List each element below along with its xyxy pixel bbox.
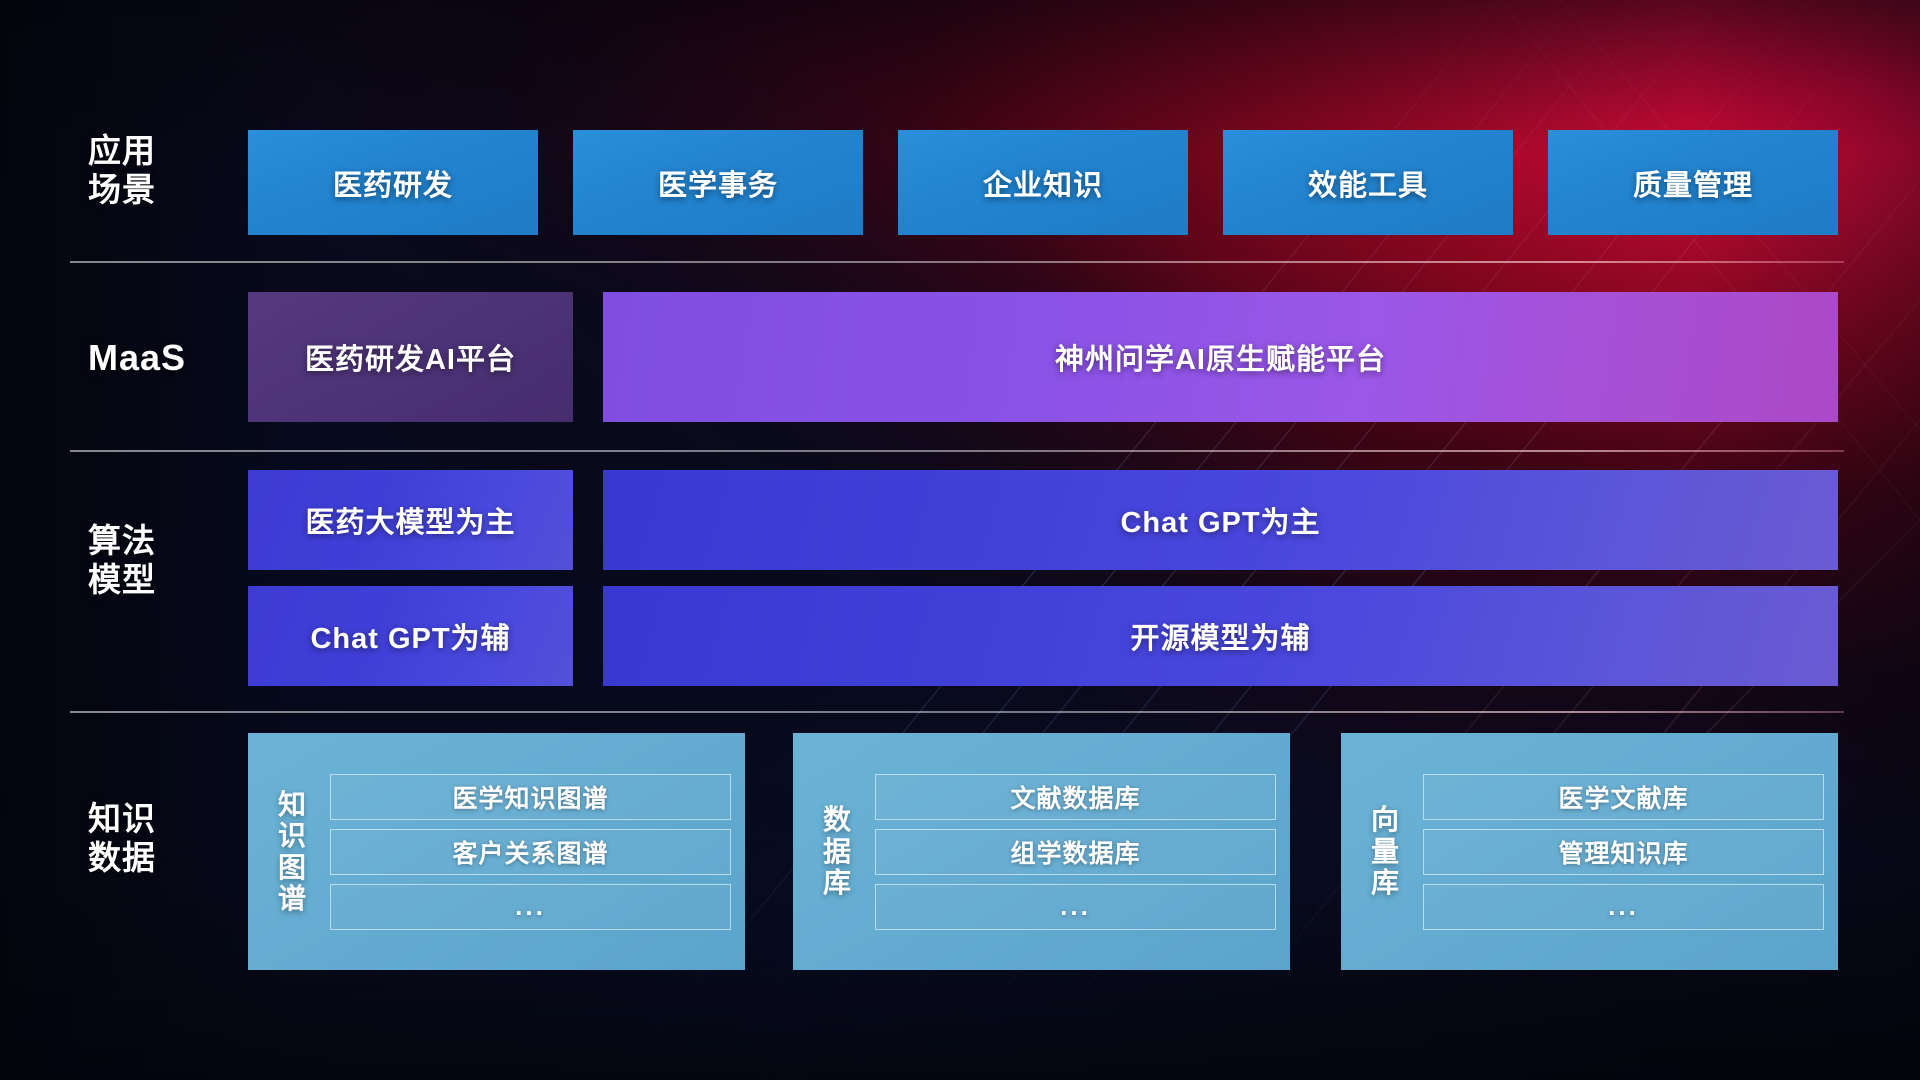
knowledge-item-database-2[interactable]: 组学数据库	[875, 829, 1276, 875]
maas-box-medical-platform[interactable]: 医药研发AI平台	[248, 292, 573, 422]
app-box-1-label: 医药研发	[333, 162, 453, 204]
knowledge-group-database-label: 数据库	[811, 804, 863, 898]
tier-label-line-1: 应用	[88, 132, 238, 171]
tier-label-knowledge-line-1: 知识	[88, 800, 238, 839]
tier-label-maas: MaaS	[88, 337, 238, 379]
tier-label-line-2: 场景	[88, 171, 238, 210]
app-box-2[interactable]: 医学事务	[573, 130, 863, 235]
knowledge-item-vector-1-label: 医学文献库	[1558, 779, 1688, 815]
algo-box-opensource-secondary-label: 开源模型为辅	[1130, 615, 1310, 657]
knowledge-item-graph-1-label: 医学知识图谱	[452, 779, 608, 815]
app-box-4-label: 效能工具	[1308, 162, 1428, 204]
algo-box-chatgpt-primary-label: Chat GPT为主	[1120, 499, 1320, 541]
architecture-diagram: 应用 场景 医药研发 医学事务 企业知识 效能工具 质量管理 MaaS 医药研发…	[0, 0, 1920, 1080]
divider-1	[70, 261, 1844, 263]
divider-3	[70, 711, 1844, 713]
app-box-3-label: 企业知识	[983, 162, 1103, 204]
algo-box-chatgpt-secondary-label: Chat GPT为辅	[310, 615, 510, 657]
knowledge-item-graph-3[interactable]: ...	[330, 884, 731, 930]
knowledge-item-vector-3-label: ...	[1608, 891, 1639, 922]
app-box-2-label: 医学事务	[658, 162, 778, 204]
app-box-5-label: 质量管理	[1633, 162, 1753, 204]
app-box-5[interactable]: 质量管理	[1548, 130, 1838, 235]
knowledge-item-database-3-label: ...	[1060, 891, 1091, 922]
knowledge-item-database-3[interactable]: ...	[875, 884, 1276, 930]
knowledge-item-graph-3-label: ...	[515, 891, 546, 922]
knowledge-item-database-2-label: 组学数据库	[1010, 834, 1140, 870]
knowledge-group-graph-label: 知识图谱	[266, 789, 318, 914]
knowledge-group-vector-label: 向量库	[1359, 804, 1411, 898]
knowledge-item-graph-2-label: 客户关系图谱	[452, 834, 608, 870]
tier-label-algo-line-2: 模型	[88, 561, 238, 600]
tier-label-algorithm-models: 算法 模型	[88, 522, 238, 600]
algo-box-opensource-secondary[interactable]: 开源模型为辅	[603, 586, 1838, 686]
maas-box-medical-platform-label: 医药研发AI平台	[305, 336, 516, 378]
maas-box-shenzhou-platform[interactable]: 神州问学AI原生赋能平台	[603, 292, 1838, 422]
algo-box-medical-model-primary[interactable]: 医药大模型为主	[248, 470, 573, 570]
maas-box-shenzhou-platform-label: 神州问学AI原生赋能平台	[1055, 336, 1386, 378]
knowledge-item-database-1[interactable]: 文献数据库	[875, 774, 1276, 820]
divider-2	[70, 450, 1844, 452]
tier-label-knowledge-line-2: 数据	[88, 839, 238, 878]
app-box-3[interactable]: 企业知识	[898, 130, 1188, 235]
knowledge-group-vector[interactable]: 向量库 医学文献库 管理知识库 ...	[1341, 733, 1838, 970]
algo-box-medical-model-primary-label: 医药大模型为主	[305, 499, 515, 541]
knowledge-group-vector-items: 医学文献库 管理知识库 ...	[1423, 774, 1824, 930]
app-box-1[interactable]: 医药研发	[248, 130, 538, 235]
tier-label-knowledge-data: 知识 数据	[88, 800, 238, 878]
knowledge-item-graph-2[interactable]: 客户关系图谱	[330, 829, 731, 875]
knowledge-item-vector-2-label: 管理知识库	[1558, 834, 1688, 870]
knowledge-item-graph-1[interactable]: 医学知识图谱	[330, 774, 731, 820]
knowledge-group-graph-items: 医学知识图谱 客户关系图谱 ...	[330, 774, 731, 930]
knowledge-group-database-items: 文献数据库 组学数据库 ...	[875, 774, 1276, 930]
tier-label-algo-line-1: 算法	[88, 522, 238, 561]
algo-box-chatgpt-secondary[interactable]: Chat GPT为辅	[248, 586, 573, 686]
app-box-4[interactable]: 效能工具	[1223, 130, 1513, 235]
knowledge-item-vector-2[interactable]: 管理知识库	[1423, 829, 1824, 875]
knowledge-group-graph[interactable]: 知识图谱 医学知识图谱 客户关系图谱 ...	[248, 733, 745, 970]
knowledge-group-database[interactable]: 数据库 文献数据库 组学数据库 ...	[793, 733, 1290, 970]
knowledge-item-vector-1[interactable]: 医学文献库	[1423, 774, 1824, 820]
tier-label-maas-text: MaaS	[88, 337, 238, 379]
knowledge-item-database-1-label: 文献数据库	[1010, 779, 1140, 815]
knowledge-item-vector-3[interactable]: ...	[1423, 884, 1824, 930]
tier-label-application-scenarios: 应用 场景	[88, 132, 238, 210]
algo-box-chatgpt-primary[interactable]: Chat GPT为主	[603, 470, 1838, 570]
